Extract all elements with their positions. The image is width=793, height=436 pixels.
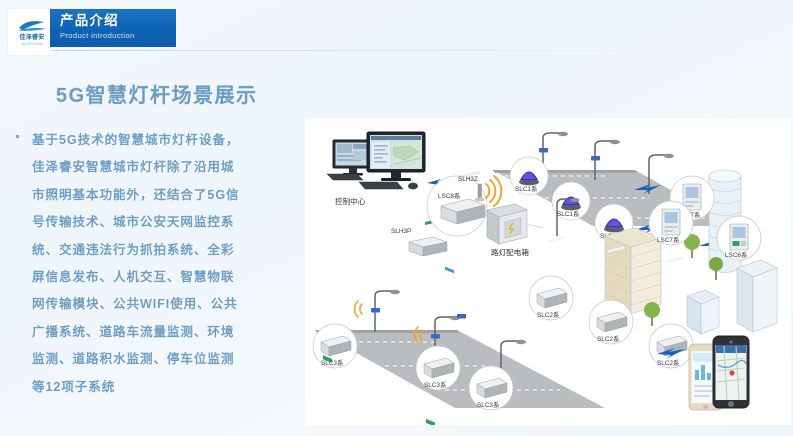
- description-line: 统、交通违法行为抓拍系统、全彩: [32, 237, 304, 264]
- callout-label-slc1-b: SLC1系: [557, 209, 579, 218]
- control-center-monitors: [327, 132, 425, 189]
- banner-title: 产品介绍: [60, 13, 176, 29]
- distribution-box: [487, 204, 527, 244]
- tree-icon: [709, 257, 723, 280]
- distribution-box-label: 路灯配电箱: [491, 247, 529, 257]
- page-header: 佳泽睿安 JIAZERUIAN 产品介绍 Product introductio…: [0, 0, 793, 62]
- callout-label-slh3p: SLH3P: [391, 228, 411, 235]
- wave-ship-logo-icon: [17, 18, 47, 33]
- description-block: 基于5G技术的智慧城市灯杆设备， 佳泽睿安智慧城市灯杆除了沿用城 市照明基本功能…: [16, 127, 304, 401]
- header-divider: [50, 50, 790, 51]
- logo-brand-cn: 佳泽睿安: [19, 35, 44, 41]
- callout-label-slc3-c: SLC3系: [477, 400, 499, 409]
- callout-label-slc2-b: SLC2系: [597, 334, 619, 343]
- callout-label-slc1-a: SLC1系: [515, 184, 537, 193]
- banner-subtitle: Product introduction: [60, 30, 176, 41]
- callout-slc1-a: SLC1系: [510, 157, 548, 195]
- description-lines: 基于5G技术的智慧城市灯杆设备， 佳泽睿安智慧城市灯杆除了沿用城 市照明基本功能…: [32, 127, 304, 401]
- callout-label-lsc6: LSC6系: [725, 250, 747, 259]
- callout-lsc7-b: LSC7系: [649, 201, 693, 245]
- callout-label-slc2-a: SLC2系: [537, 310, 559, 319]
- page-title: 5G智慧灯杆场景展示: [56, 79, 258, 108]
- description-line: 佳泽睿安智慧城市灯杆除了沿用城: [32, 154, 304, 181]
- description-line: 号传输技术、城市公安天网监控系: [32, 209, 304, 236]
- bullet-marker: [16, 135, 19, 138]
- control-center-label: 控制中心: [335, 196, 366, 206]
- description-line: 网传输模块、公共WIFI使用、公共: [32, 291, 304, 318]
- callout-slc3-c: SLC3系: [469, 366, 513, 425]
- tree-icon: [644, 302, 660, 326]
- callout-label-lsc7-b: LSC7系: [657, 235, 679, 244]
- description-line: 等12项子系统: [32, 374, 304, 401]
- description-line: 基于5G技术的智慧城市灯杆设备，: [32, 127, 304, 154]
- description-line: 市照明基本功能外，还结合了5G信: [32, 182, 304, 209]
- callout-lsc6: LSC6系: [717, 216, 761, 260]
- callout-label-slc3-b: SLC3系: [424, 380, 446, 389]
- description-line: 监测、道路积水监测、停车位监测: [32, 346, 304, 373]
- callout-label-slh3z: SLH3Z: [458, 176, 478, 183]
- brand-logo: 佳泽睿安 JIAZERUIAN: [8, 9, 56, 55]
- callout-slc2-a: SLC2系: [529, 236, 573, 320]
- callout-slc3-a: SLC3系: [313, 324, 357, 368]
- section-banner: 产品介绍 Product introduction: [50, 9, 176, 47]
- callout-label-lsc8: LSC8系: [438, 191, 460, 200]
- scene-diagram-panel: 控制中心 SLH3P LSC8系 SLH3Z: [305, 118, 791, 425]
- callout-label-slc3-a: SLC3系: [321, 358, 343, 367]
- smartphone-pair: [689, 336, 749, 410]
- logo-brand-sub: JIAZERUIAN: [21, 43, 43, 46]
- callout-label-slc2-c: SLC2系: [657, 358, 679, 367]
- description-line: 广播系统、道路车流量监测、环境: [32, 319, 304, 346]
- description-line: 屏信息发布、人机交互、智慧物联: [32, 264, 304, 291]
